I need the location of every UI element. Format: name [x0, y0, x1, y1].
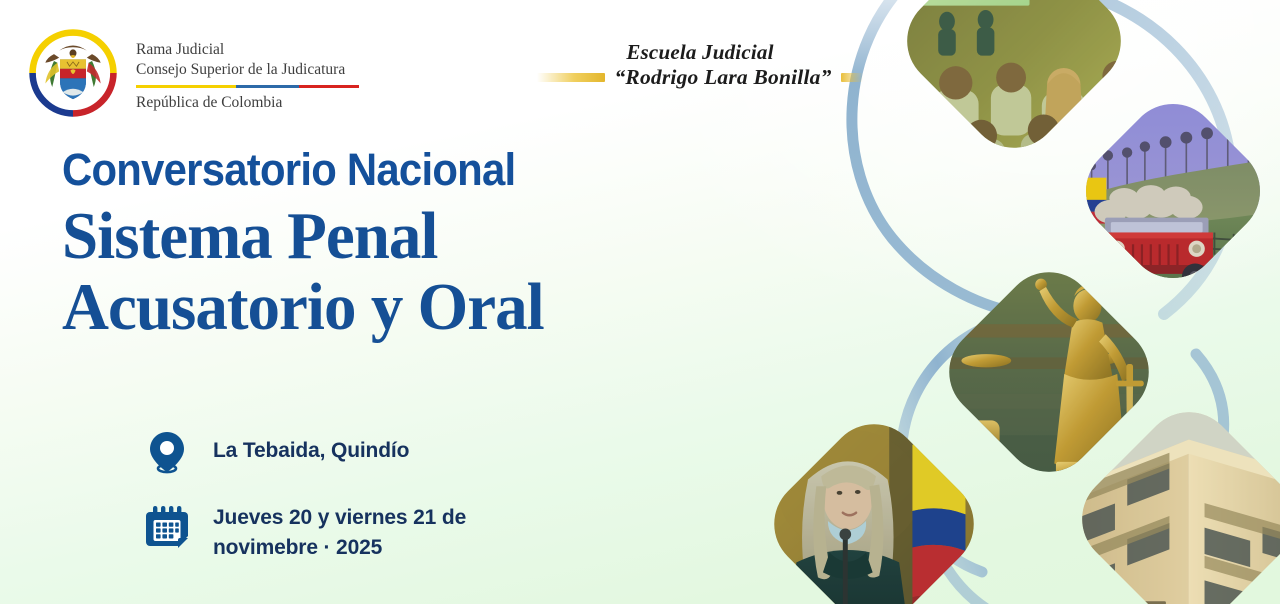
divider-red — [299, 85, 359, 88]
brand-line-consejo: Consejo Superior de la Judicatura — [136, 60, 359, 80]
date-text: Jueves 20 y viernes 21 de novimebre · 20… — [213, 502, 513, 564]
gold-dash-left-icon — [537, 73, 605, 82]
divider-yellow — [136, 85, 236, 88]
photo-collage — [760, 0, 1280, 604]
detail-row-date: Jueves 20 y viernes 21 de novimebre · 20… — [145, 502, 513, 564]
brand-line-republica: República de Colombia — [136, 94, 359, 112]
event-kicker: Conversatorio Nacional — [62, 146, 524, 195]
brand-line-rama-judicial: Rama Judicial — [136, 40, 359, 60]
location-text: La Tebaida, Quindío — [213, 428, 409, 466]
escuela-line-2-row: “Rodrigo Lara Bonilla” — [500, 65, 900, 91]
event-details: La Tebaida, Quindío — [145, 428, 513, 564]
escuela-line-1: Escuela Judicial — [500, 40, 900, 65]
escuela-line-2: “Rodrigo Lara Bonilla” — [614, 65, 831, 91]
gold-dash-right-icon — [841, 73, 863, 82]
tricolor-divider — [136, 85, 359, 88]
title-block: Conversatorio Nacional Sistema Penal Acu… — [62, 146, 559, 343]
event-title-line-1: Sistema Penal — [62, 199, 437, 273]
detail-row-location: La Tebaida, Quindío — [145, 428, 513, 474]
event-title: Sistema Penal Acusatorio y Oral — [62, 201, 544, 343]
divider-blue — [236, 85, 298, 88]
location-pin-icon — [145, 428, 189, 474]
calendar-icon — [145, 502, 189, 548]
event-title-line-2: Acusatorio y Oral — [62, 272, 544, 343]
escuela-judicial-lockup: Escuela Judicial “Rodrigo Lara Bonilla” — [500, 40, 900, 91]
brand-text-block: Rama Judicial Consejo Superior de la Jud… — [136, 34, 359, 111]
colombia-coat-of-arms-icon — [26, 26, 120, 120]
brand-lockup: Rama Judicial Consejo Superior de la Jud… — [26, 26, 359, 120]
event-poster: Rama Judicial Consejo Superior de la Jud… — [0, 0, 1280, 604]
